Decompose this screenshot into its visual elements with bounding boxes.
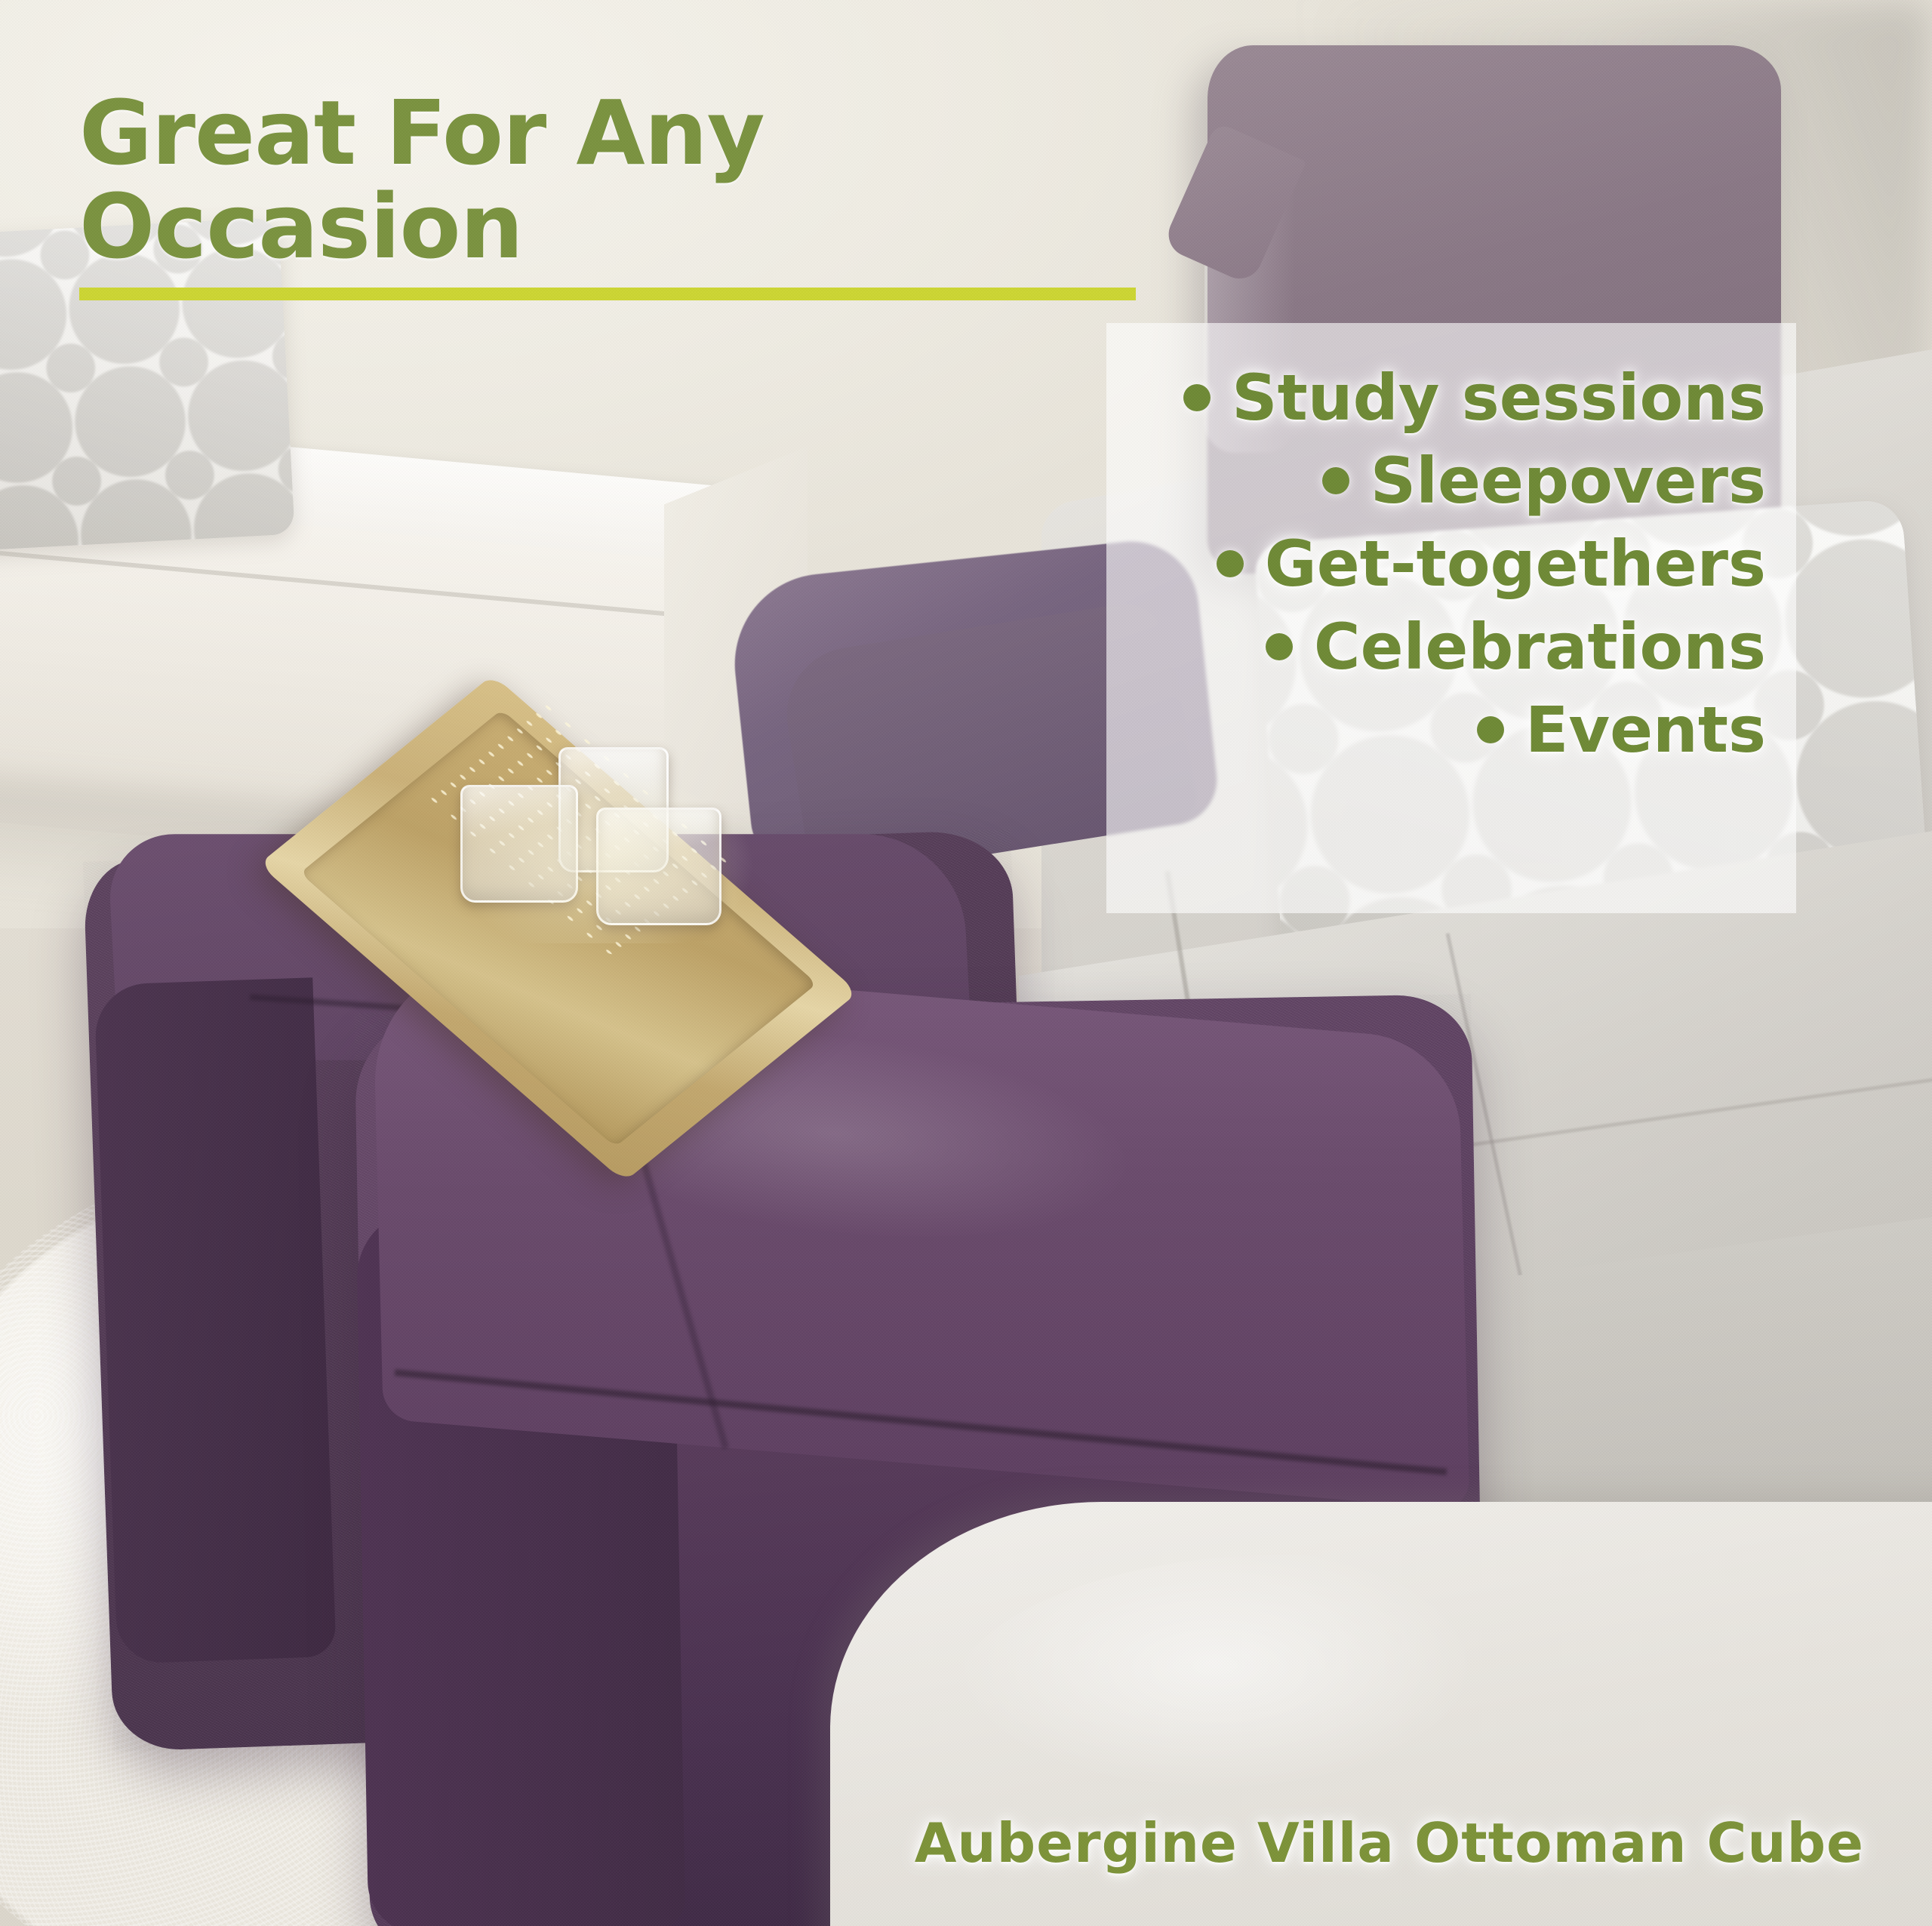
list-item-label: Events	[1525, 694, 1766, 765]
list-item: Get-togethers	[1217, 528, 1766, 599]
list-item: Study sessions	[1183, 362, 1766, 433]
bullet-dot-icon	[1217, 550, 1244, 577]
bullet-dot-icon	[1322, 467, 1349, 494]
list-item-label: Celebrations	[1314, 611, 1766, 682]
glass-votive-candle	[596, 808, 721, 925]
ottoman-back-side-face	[94, 977, 336, 1664]
list-item-label: Sleepovers	[1371, 445, 1766, 516]
headline-underline-rule	[79, 288, 1136, 300]
list-item-label: Study sessions	[1232, 362, 1766, 433]
bullet-dot-icon	[1183, 384, 1211, 411]
list-item: Celebrations	[1266, 611, 1766, 682]
product-lifestyle-image: Great For Any Occasion Study sessions Sl…	[0, 0, 1932, 1926]
glass-votive-candle	[460, 785, 578, 903]
occasions-list: Study sessions Sleepovers Get-togethers …	[1106, 323, 1796, 765]
page-title: Great For Any Occasion	[79, 87, 1196, 274]
gold-hammered-tray	[204, 657, 1004, 1004]
list-item: Events	[1477, 694, 1766, 765]
list-item: Sleepovers	[1322, 445, 1766, 516]
occasions-panel: Study sessions Sleepovers Get-togethers …	[1106, 323, 1796, 913]
headline-block: Great For Any Occasion	[79, 87, 1196, 300]
product-name-caption: Aubergine Villa Ottoman Cube	[0, 1811, 1864, 1875]
bullet-dot-icon	[1266, 633, 1293, 660]
bullet-dot-icon	[1477, 716, 1504, 743]
list-item-label: Get-togethers	[1265, 528, 1766, 599]
